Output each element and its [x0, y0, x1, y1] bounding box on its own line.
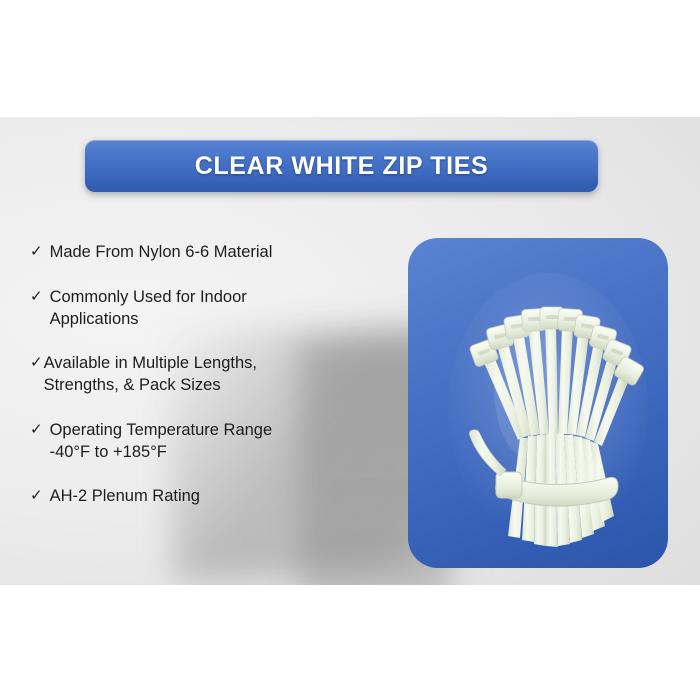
list-item: ✓ AH-2 Plenum Rating: [30, 486, 370, 508]
letterbox-bottom: [0, 585, 700, 700]
feature-list: ✓ Made From Nylon 6-6 Material ✓ Commonl…: [30, 242, 370, 531]
list-item: ✓ Made From Nylon 6-6 Material: [30, 242, 370, 264]
check-icon: ✓: [30, 353, 43, 374]
check-icon: ✓: [30, 242, 43, 263]
check-icon: ✓: [30, 420, 43, 441]
feature-text: Operating Temperature Range -40°F to +18…: [50, 420, 273, 464]
content-background: CLEAR WHITE ZIP TIES ✓ Made From Nylon 6…: [0, 117, 700, 585]
header-banner: CLEAR WHITE ZIP TIES: [85, 140, 598, 192]
feature-text: Commonly Used for Indoor Applications: [50, 287, 247, 331]
letterbox-top: [0, 0, 700, 117]
check-icon: ✓: [30, 486, 43, 507]
list-item: ✓ Commonly Used for Indoor Applications: [30, 287, 370, 331]
zip-tie-bundle-image: [408, 238, 668, 568]
infographic-page: CLEAR WHITE ZIP TIES ✓ Made From Nylon 6…: [0, 0, 700, 700]
feature-text: Available in Multiple Lengths, Strengths…: [44, 353, 257, 397]
feature-text: Made From Nylon 6-6 Material: [50, 242, 273, 264]
page-title: CLEAR WHITE ZIP TIES: [195, 152, 489, 181]
product-image-panel: [408, 238, 668, 568]
list-item: ✓ Operating Temperature Range -40°F to +…: [30, 420, 370, 464]
feature-text: AH-2 Plenum Rating: [50, 486, 200, 508]
check-icon: ✓: [30, 287, 43, 308]
list-item: ✓ Available in Multiple Lengths, Strengt…: [30, 353, 370, 397]
